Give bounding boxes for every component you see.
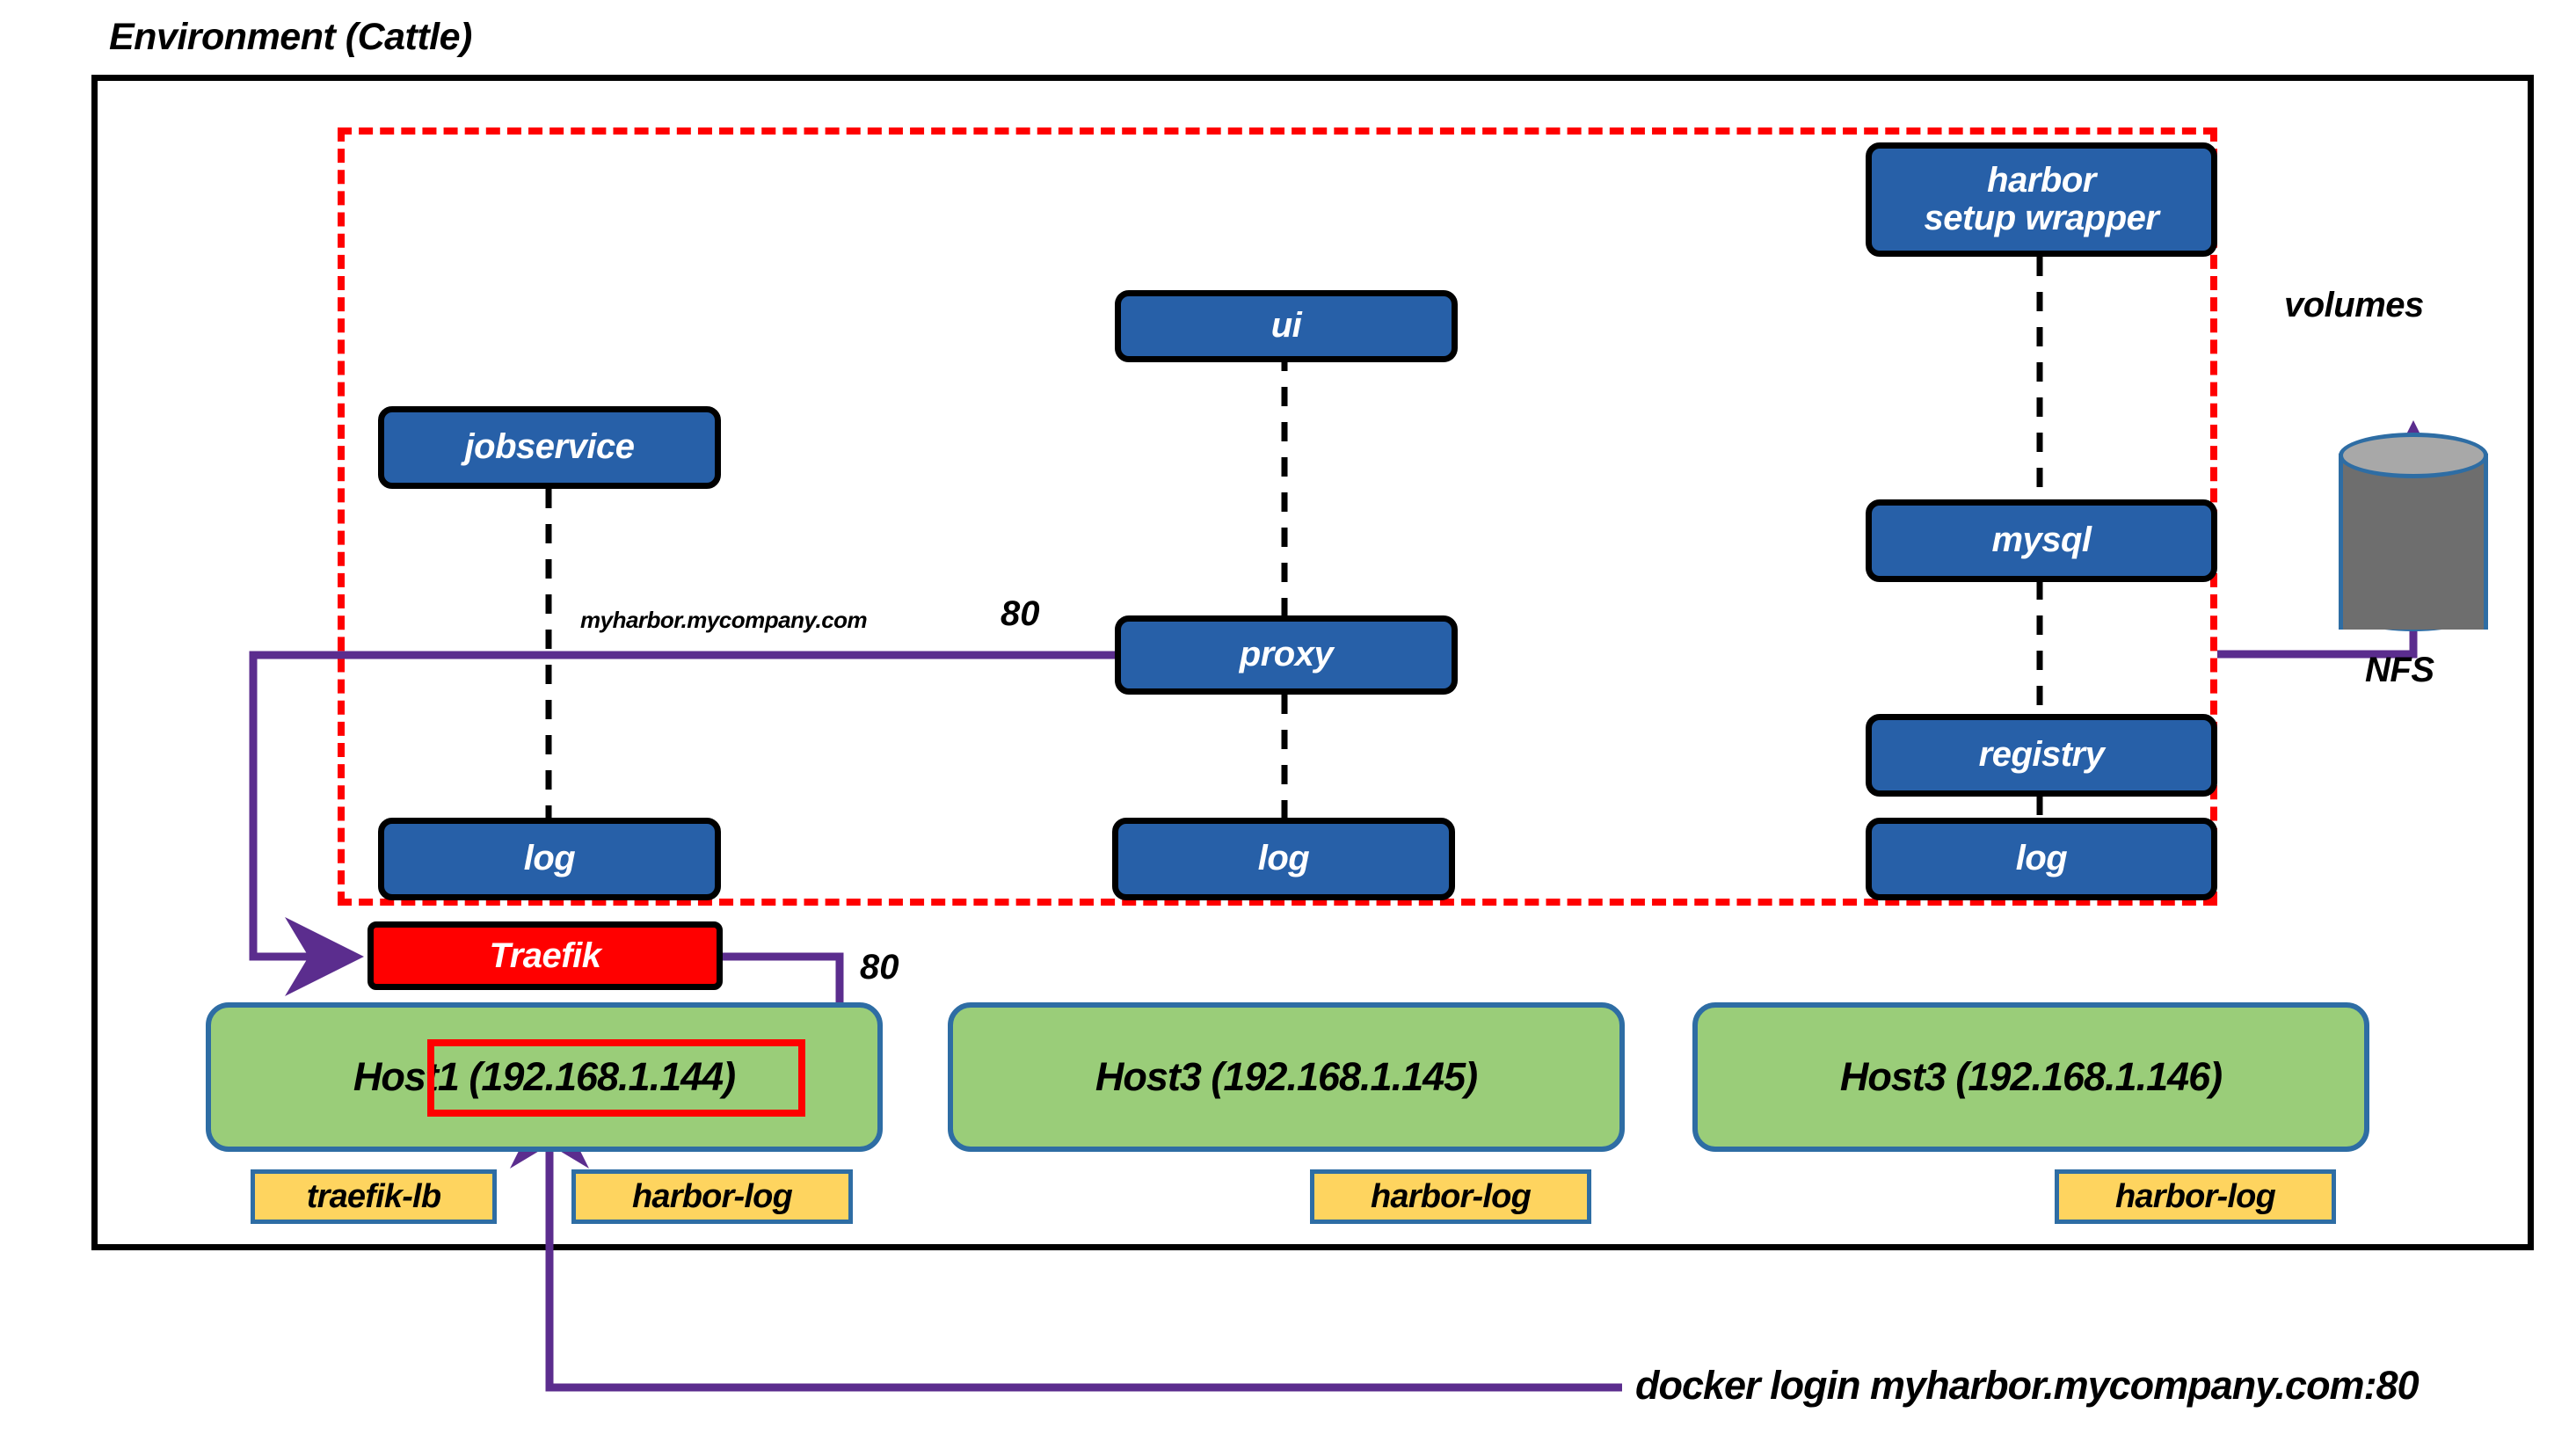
host-box-3[interactable]: Host3 (192.168.1.146) <box>1692 1002 2369 1152</box>
service-box-jobservice[interactable]: jobservice <box>378 406 721 489</box>
stack-badge-host2-harbor-log[interactable]: harbor-log <box>1310 1169 1591 1224</box>
service-label-line2: setup wrapper <box>1925 200 2159 237</box>
service-box-registry[interactable]: registry <box>1866 714 2217 797</box>
environment-title: Environment (Cattle) <box>109 16 472 59</box>
host-label: Host3 (192.168.1.145) <box>1095 1054 1477 1100</box>
stack-badge-traefik-lb[interactable]: traefik-lb <box>251 1169 497 1224</box>
service-box-ui[interactable]: ui <box>1115 290 1458 362</box>
traefik-label: Traefik <box>490 936 601 976</box>
stack-badge-host1-harbor-log[interactable]: harbor-log <box>571 1169 853 1224</box>
ingress-hostname-label: myharbor.mycompany.com <box>580 607 867 634</box>
service-box-mysql[interactable]: mysql <box>1866 499 2217 582</box>
volumes-label: volumes <box>2284 286 2424 325</box>
service-box-log-right[interactable]: log <box>1866 818 2217 900</box>
host-box-2[interactable]: Host3 (192.168.1.145) <box>948 1002 1625 1152</box>
host-label: Host3 (192.168.1.146) <box>1840 1054 2222 1100</box>
stack-label: harbor-log <box>2115 1178 2275 1216</box>
traefik-load-balancer-box[interactable]: Traefik <box>367 921 723 990</box>
stack-label: traefik-lb <box>307 1178 440 1216</box>
host1-ip-highlight <box>427 1039 805 1117</box>
stack-badge-host3-harbor-log[interactable]: harbor-log <box>2055 1169 2336 1224</box>
service-label: mysql <box>1991 521 2091 559</box>
service-box-log-center[interactable]: log <box>1112 818 1455 900</box>
nfs-label: NFS <box>2365 651 2434 690</box>
traefik-out-port-label: 80 <box>860 948 899 987</box>
service-label: log <box>2016 840 2067 877</box>
service-label: jobservice <box>465 428 635 466</box>
ingress-port-label: 80 <box>1001 594 1040 634</box>
service-label-line1: harbor <box>1987 162 2096 200</box>
service-label: log <box>1258 840 1309 877</box>
nfs-storage-cylinder[interactable] <box>2339 433 2488 633</box>
stack-label: harbor-log <box>1371 1178 1531 1216</box>
cylinder-top-ellipse <box>2339 433 2488 478</box>
service-label: registry <box>1979 736 2105 774</box>
cylinder-body <box>2339 454 2488 630</box>
service-label: log <box>524 840 575 877</box>
stack-label: harbor-log <box>632 1178 792 1216</box>
service-box-proxy[interactable]: proxy <box>1115 615 1458 695</box>
service-label: ui <box>1271 307 1302 345</box>
architecture-diagram: Environment (Cattle) jobservice <box>0 0 2576 1449</box>
service-label: proxy <box>1240 636 1333 674</box>
docker-login-annotation: docker login myharbor.mycompany.com:80 <box>1635 1363 2419 1409</box>
service-box-log-left[interactable]: log <box>378 818 721 900</box>
service-box-harbor-setup-wrapper[interactable]: harbor setup wrapper <box>1866 142 2217 257</box>
